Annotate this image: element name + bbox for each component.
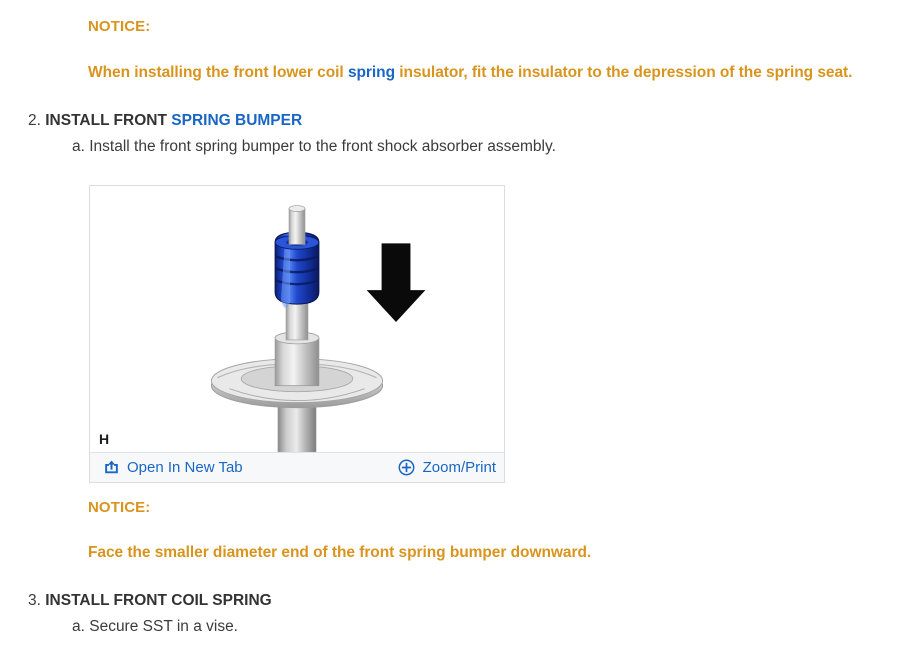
manual-page: NOTICE: When installing the front lower …	[0, 0, 915, 653]
notice-text-1-before: When installing the front lower coil	[88, 64, 348, 81]
step-2-substep-a: a. Install the front spring bumper to th…	[72, 138, 556, 156]
zoom-print-button[interactable]: Zoom/Print	[398, 459, 496, 477]
figure-toolbar: Open In New Tab Zoom/Print	[90, 452, 504, 482]
step-2-number: 2.	[28, 112, 41, 129]
step-2-title-plain: INSTALL FRONT	[45, 112, 167, 129]
open-in-new-tab-icon	[102, 459, 120, 477]
step-3-number: 3.	[28, 592, 41, 609]
step-3-heading: 3. INSTALL FRONT COIL SPRING	[28, 592, 272, 610]
notice-label-2: NOTICE:	[88, 499, 150, 516]
notice-text-1-after: insulator, fit the insulator to the depr…	[395, 64, 852, 81]
figure-callout-h: H	[99, 431, 109, 447]
step-3-substep-a: a. Secure SST in a vise.	[72, 618, 238, 636]
shock-absorber-illustration	[90, 186, 504, 453]
spring-link[interactable]: spring	[348, 64, 395, 81]
notice-label-1: NOTICE:	[88, 18, 150, 35]
figure-panel: H Open In New Tab	[89, 185, 505, 483]
plus-circle-icon	[398, 459, 416, 477]
down-arrow-indicator	[367, 243, 426, 322]
open-in-new-tab-label: Open In New Tab	[127, 460, 243, 475]
notice-text-1: When installing the front lower coil spr…	[88, 64, 852, 82]
figure-canvas: H	[90, 186, 504, 453]
zoom-print-label: Zoom/Print	[423, 460, 496, 475]
step-3-title: INSTALL FRONT COIL SPRING	[45, 592, 271, 609]
notice-text-2: Face the smaller diameter end of the fro…	[88, 544, 591, 562]
open-in-new-tab-button[interactable]: Open In New Tab	[102, 459, 243, 477]
spring-bumper-link[interactable]: SPRING BUMPER	[171, 112, 302, 129]
step-2-heading: 2. INSTALL FRONT SPRING BUMPER	[28, 112, 302, 130]
